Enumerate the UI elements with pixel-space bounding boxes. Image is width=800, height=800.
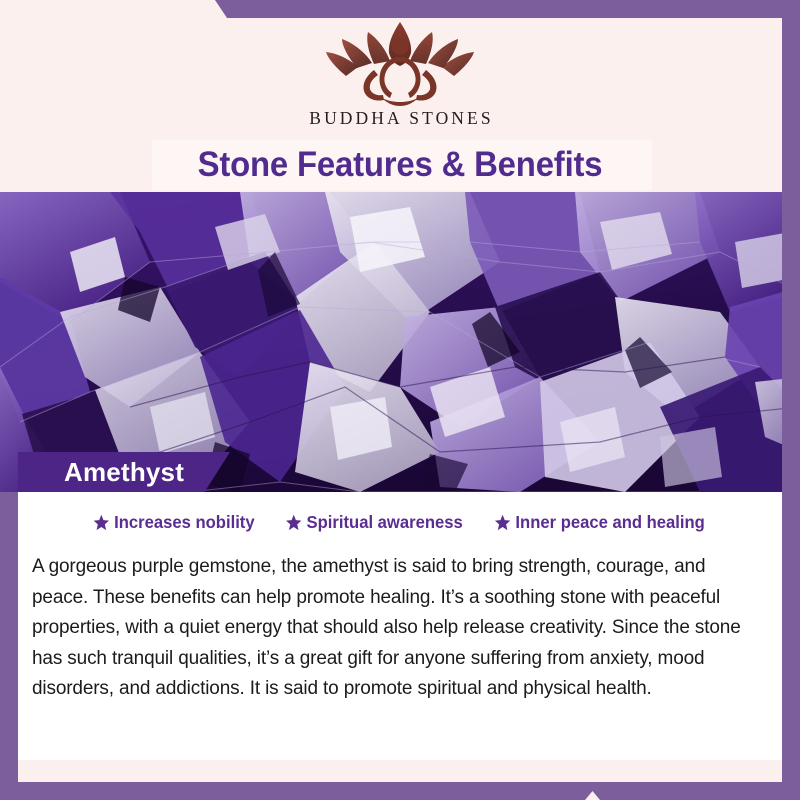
benefit-item: Increases nobility bbox=[93, 512, 254, 533]
lotus-meditation-logo-icon bbox=[312, 14, 488, 110]
star-icon bbox=[286, 514, 302, 531]
benefit-label: Increases nobility bbox=[114, 512, 254, 533]
benefit-label: Spiritual awareness bbox=[307, 512, 463, 533]
hero-image bbox=[0, 192, 800, 492]
infographic-page: BUDDHA STONES Stone Features & Benefits bbox=[0, 0, 800, 800]
header: BUDDHA STONES Stone Features & Benefits bbox=[0, 0, 800, 192]
amethyst-crystal-cluster-icon bbox=[0, 192, 800, 492]
stone-name: Amethyst bbox=[64, 457, 184, 488]
content-panel: Increases nobility Spiritual awareness I… bbox=[18, 492, 782, 760]
star-icon bbox=[93, 514, 109, 531]
page-title: Stone Features & Benefits bbox=[24, 140, 776, 190]
benefit-item: Spiritual awareness bbox=[286, 512, 463, 533]
benefit-label: Inner peace and healing bbox=[516, 512, 705, 533]
star-icon bbox=[495, 514, 511, 531]
brand-logo: BUDDHA STONES bbox=[0, 14, 800, 134]
brand-name: BUDDHA STONES bbox=[306, 108, 493, 129]
description-text: A gorgeous purple gemstone, the amethyst… bbox=[32, 552, 761, 705]
benefits-list: Increases nobility Spiritual awareness I… bbox=[18, 512, 782, 533]
stone-name-banner: Amethyst bbox=[18, 452, 230, 492]
benefit-item: Inner peace and healing bbox=[495, 512, 705, 533]
